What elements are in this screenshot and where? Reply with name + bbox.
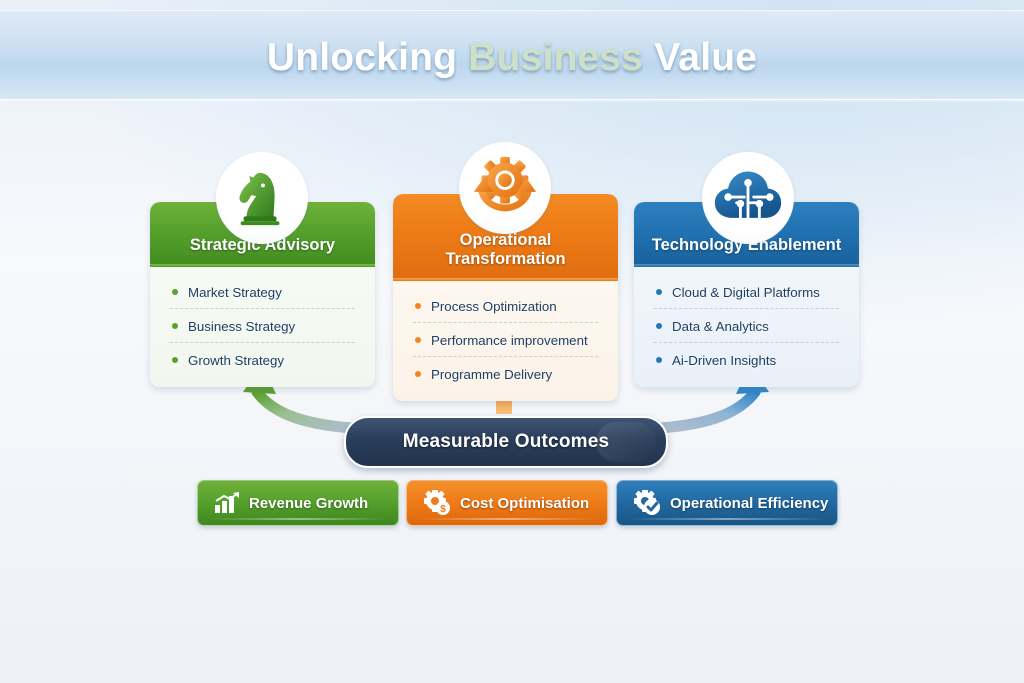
svg-text:$: $ (440, 504, 446, 515)
divider (413, 356, 598, 358)
chip-revenue-growth[interactable]: Revenue Growth (197, 480, 399, 526)
bullet-icon (172, 289, 178, 295)
list-item-label: Cloud & Digital Platforms (672, 285, 820, 300)
infographic-canvas: Unlocking Business Value (0, 0, 1024, 683)
list-item-label: Growth Strategy (188, 353, 284, 368)
chip-operational-efficiency[interactable]: Operational Efficiency (616, 480, 838, 526)
page-title-accent: Business (468, 36, 643, 79)
card-title-operational: Operational Transformation (445, 231, 565, 269)
chess-knight-icon (216, 152, 308, 244)
list-item[interactable]: Performance improvement (393, 327, 618, 353)
measurable-outcomes-label: Measurable Outcomes (403, 431, 610, 453)
card-title-operational-line2: Transformation (445, 250, 565, 269)
list-item[interactable]: Business Strategy (150, 313, 375, 339)
list-item-label: Business Strategy (188, 319, 295, 334)
cloud-circuit-icon (702, 152, 794, 244)
gear-arrows-icon (459, 142, 551, 234)
bullet-icon (656, 289, 662, 295)
list-item-label: Process Optimization (431, 299, 557, 314)
divider (654, 342, 839, 344)
list-item[interactable]: Market Strategy (150, 279, 375, 305)
list-item[interactable]: Ai-Driven Insights (634, 347, 859, 373)
list-item[interactable]: Process Optimization (393, 293, 618, 319)
measurable-outcomes-pill[interactable]: Measurable Outcomes (344, 416, 668, 468)
list-item[interactable]: Data & Analytics (634, 313, 859, 339)
gear-check-icon (633, 490, 661, 516)
bullet-icon (656, 323, 662, 329)
list-item[interactable]: Growth Strategy (150, 347, 375, 373)
chip-label: Cost Optimisation (460, 495, 589, 512)
chip-label: Revenue Growth (249, 495, 368, 512)
list-item-label: Programme Delivery (431, 367, 552, 382)
card-body-operational: Process Optimization Performance improve… (393, 281, 618, 401)
divider (170, 342, 355, 344)
list-item[interactable]: Cloud & Digital Platforms (634, 279, 859, 305)
page-title-part1: Unlocking (267, 36, 468, 79)
page-title: Unlocking Business Value (0, 36, 1024, 80)
bullet-icon (415, 303, 421, 309)
list-item-label: Data & Analytics (672, 319, 769, 334)
bar-chart-growth-icon (214, 492, 240, 514)
divider (170, 308, 355, 310)
list-item-label: Market Strategy (188, 285, 282, 300)
bullet-icon (415, 371, 421, 377)
page-title-part2: Value (643, 36, 757, 79)
bullet-icon (172, 323, 178, 329)
chip-cost-optimisation[interactable]: $ Cost Optimisation (406, 480, 608, 526)
bullet-icon (172, 357, 178, 363)
card-body-technology: Cloud & Digital Platforms Data & Analyti… (634, 267, 859, 387)
chip-label: Operational Efficiency (670, 495, 828, 512)
list-item-label: Ai-Driven Insights (672, 353, 776, 368)
gear-dollar-icon: $ (423, 490, 451, 516)
card-body-strategic: Market Strategy Business Strategy Growth… (150, 267, 375, 387)
list-item[interactable]: Programme Delivery (393, 361, 618, 387)
bullet-icon (415, 337, 421, 343)
bullet-icon (656, 357, 662, 363)
list-item-label: Performance improvement (431, 333, 588, 348)
divider (413, 322, 598, 324)
divider (654, 308, 839, 310)
